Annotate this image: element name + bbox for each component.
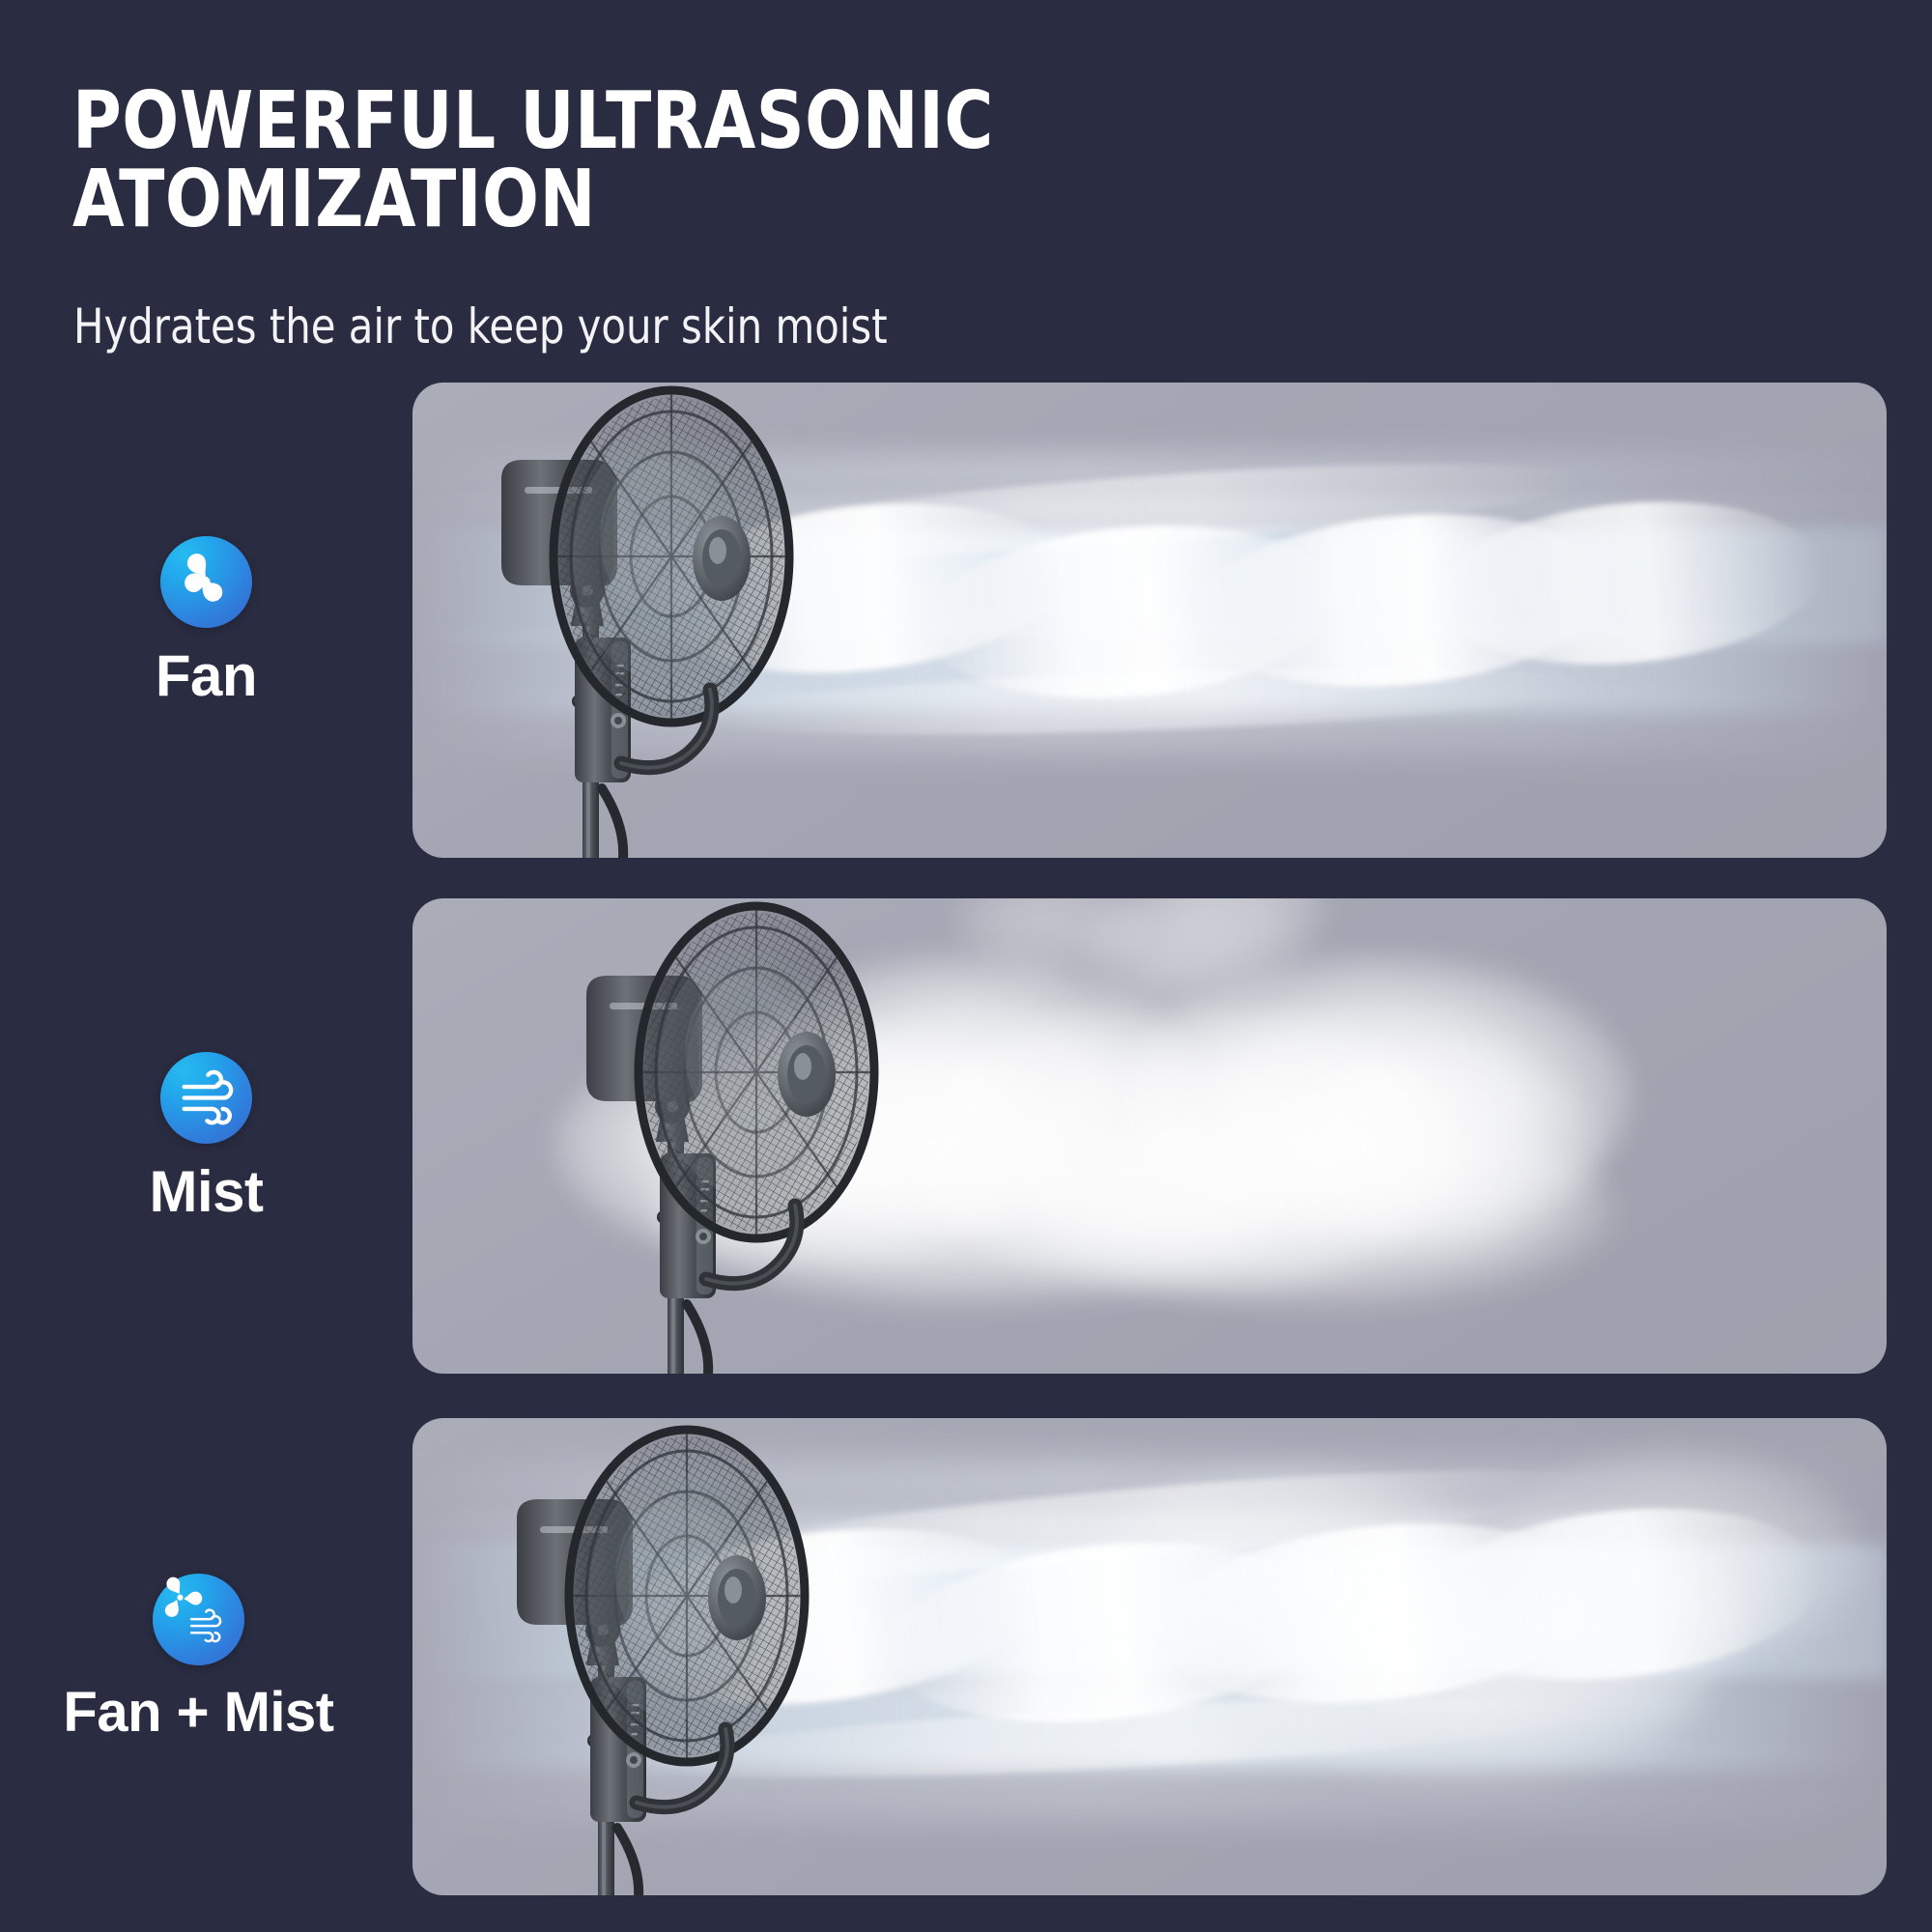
panel-scene-fan-mist bbox=[412, 1418, 1887, 1895]
feature-label-fan-mist: Fan + Mist bbox=[63, 1685, 333, 1741]
fan-and-mist-icon bbox=[153, 1574, 244, 1665]
feature-row-fan: Fan bbox=[0, 383, 1932, 858]
infographic-canvas: POWERFUL ULTRASONIC ATOMIZATION Hydrates… bbox=[0, 0, 1932, 1932]
wind-mist-icon bbox=[160, 1052, 252, 1144]
feature-row-mist: Mist bbox=[0, 898, 1932, 1374]
panel-scene-fan bbox=[412, 383, 1887, 858]
feature-label-group-fan: Fan bbox=[0, 383, 412, 858]
feature-label-mist: Mist bbox=[150, 1163, 264, 1221]
page-subtitle: Hydrates the air to keep your skin moist bbox=[73, 301, 1421, 353]
fan-propeller-icon bbox=[160, 536, 252, 628]
pedestal-fan-illustration bbox=[447, 1422, 853, 1895]
product-photo-mist bbox=[412, 898, 1887, 1374]
panel-scene-mist bbox=[412, 898, 1887, 1374]
feature-label-group-mist: Mist bbox=[0, 898, 412, 1374]
pedestal-fan-illustration bbox=[517, 898, 923, 1374]
feature-label-fan: Fan bbox=[156, 647, 257, 705]
product-photo-fan-mist bbox=[412, 1418, 1887, 1895]
page-title: POWERFUL ULTRASONIC ATOMIZATION bbox=[72, 82, 1435, 239]
pedestal-fan-illustration bbox=[432, 383, 838, 858]
feature-label-group-fan-mist: Fan + Mist bbox=[0, 1418, 405, 1895]
product-photo-fan bbox=[412, 383, 1887, 858]
feature-row-fan-mist: Fan + Mist bbox=[0, 1418, 1932, 1895]
